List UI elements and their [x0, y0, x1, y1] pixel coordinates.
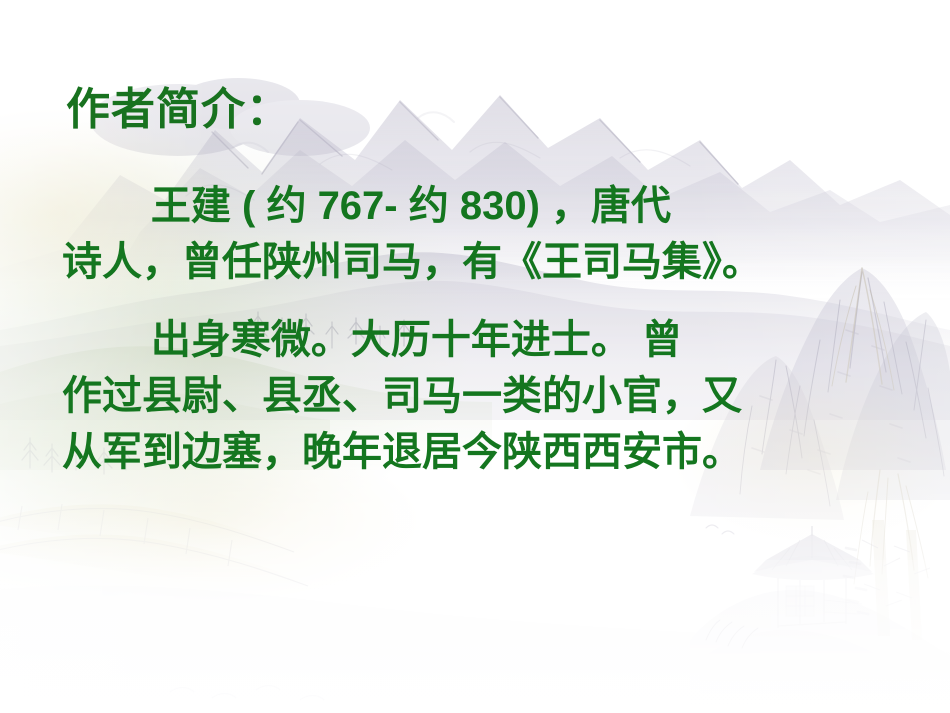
paragraph-line: 从军到边塞，晚年退居今陕西西安市。 [62, 424, 892, 480]
left-terraced-banks [0, 504, 308, 586]
paragraph-line: 王建 ( 约 767- 约 830) ，唐代 [62, 178, 892, 234]
paragraph-author-career: 出身寒微。大历十年进士。 曾 作过县尉、县丞、司马一类的小官，又 从军到边塞，晚… [62, 312, 892, 480]
presentation-slide: 作者简介： 王建 ( 约 767- 约 830) ，唐代 诗人，曾任陕州司马，有… [0, 0, 950, 713]
bottom-pebbles [170, 686, 324, 701]
water-bank [0, 560, 950, 713]
pavilion-trees [844, 520, 930, 640]
paragraph-line: 作过县尉、县丞、司马一类的小官，又 [62, 368, 892, 424]
paragraph-author-intro: 王建 ( 约 767- 约 830) ，唐代 诗人，曾任陕州司马，有《王司马集》… [62, 178, 892, 290]
paragraph-line: 出身寒微。大历十年进士。 曾 [62, 312, 892, 368]
bird-specks [706, 525, 734, 534]
bank-grass-right [706, 620, 758, 648]
page-title: 作者简介： [66, 86, 291, 134]
pavilion [752, 526, 874, 628]
paragraph-line: 诗人，曾任陕州司马，有《王司马集》。 [62, 234, 892, 290]
pavilion-hill [690, 590, 950, 713]
